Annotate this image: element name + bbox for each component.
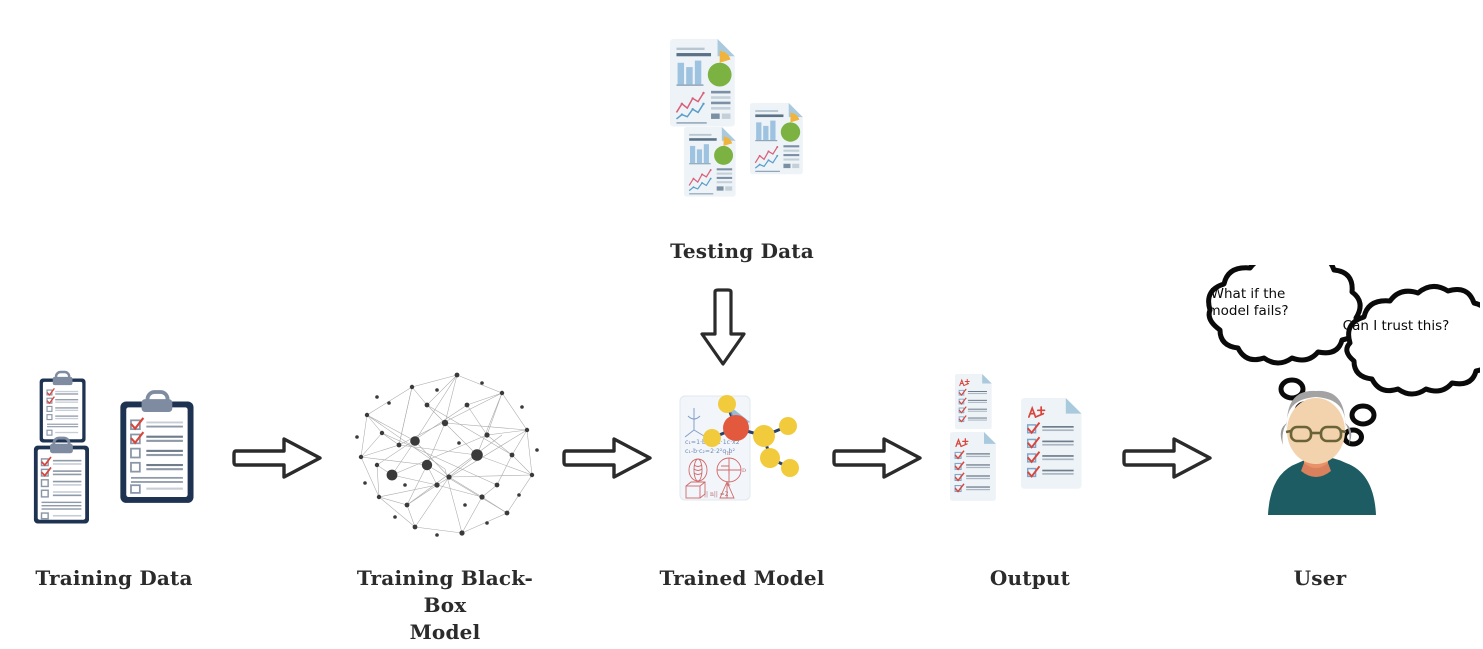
- molecule-document-icon: c₁=1·b+a·2·1c·x2 c₁-b·c₂=2·2²q-b² nDϕ ||…: [672, 382, 812, 517]
- label-black-box-model: Training Black-Box Model: [345, 565, 545, 646]
- flow-arrow-1: [232, 425, 324, 496]
- flow-arrow-3: [832, 425, 924, 496]
- clipboards-icon: [20, 370, 210, 535]
- report-doc-bottom: [684, 127, 736, 197]
- thought-bubble-2: [1345, 286, 1481, 444]
- label-output: Output: [960, 565, 1100, 592]
- svg-text:D: D: [742, 468, 746, 474]
- clipboard-small-bottom: [34, 438, 89, 524]
- testing-data-down-arrow: [692, 288, 754, 373]
- thought-1-line-1: What if the: [1188, 286, 1308, 303]
- stage-trained-model: c₁=1·b+a·2·1c·x2 c₁-b·c₂=2·2²q-b² nDϕ ||…: [672, 382, 812, 517]
- thought-bubble-2-text: Can I trust this?: [1332, 318, 1460, 335]
- graded-papers-icon: [945, 370, 1110, 525]
- label-trained-model: Trained Model: [642, 565, 842, 592]
- label-testing-data: Testing Data: [652, 238, 832, 265]
- svg-text:|| n|| =2: || n|| =2: [704, 491, 729, 498]
- thought-bubble-1-text: What if the model fails?: [1188, 286, 1308, 320]
- science-card: c₁=1·b+a·2·1c·x2 c₁-b·c₂=2·2²q-b² nDϕ ||…: [680, 396, 750, 500]
- clipboard-large: [120, 392, 193, 503]
- down-arrow-icon: [692, 288, 754, 368]
- graded-paper-top-left: [955, 374, 992, 429]
- stage-training-data: [20, 370, 210, 535]
- right-arrow-icon: [832, 425, 924, 491]
- report-documents-icon: [662, 35, 822, 215]
- graded-paper-main: [1021, 398, 1081, 489]
- stage-black-box-model: [337, 345, 552, 560]
- label-training-data: Training Data: [24, 565, 204, 592]
- graded-paper-bottom-left: [950, 432, 996, 501]
- label-user: User: [1250, 565, 1390, 592]
- report-doc-right: [750, 103, 803, 174]
- right-arrow-icon: [232, 425, 324, 491]
- thought-2-line-1: Can I trust this?: [1332, 318, 1460, 335]
- thought-1-line-2: model fails?: [1188, 303, 1308, 320]
- report-doc-top-left: [670, 39, 735, 126]
- stage-output: [945, 370, 1110, 525]
- network-sphere-icon: [337, 345, 552, 560]
- clipboard-small-top: [40, 372, 86, 443]
- right-arrow-icon: [562, 425, 654, 491]
- flow-arrow-2: [562, 425, 654, 496]
- stage-testing-data: [662, 35, 822, 215]
